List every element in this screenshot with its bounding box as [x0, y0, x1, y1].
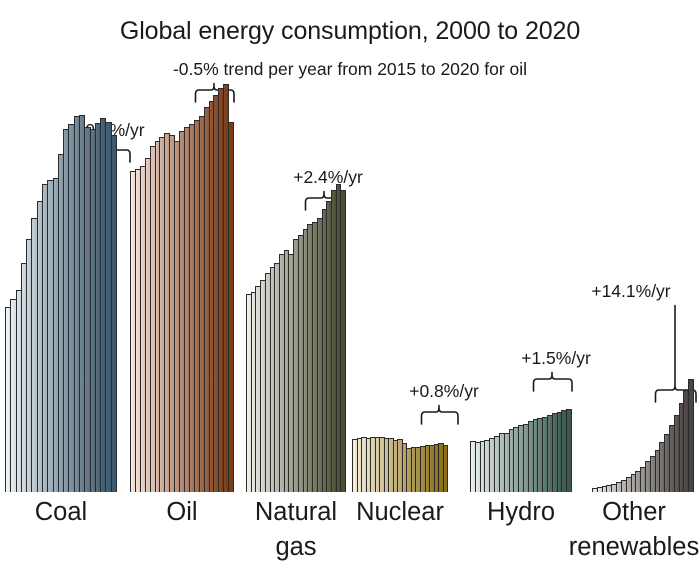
- category-label-hydro: Hydro: [462, 495, 580, 530]
- category-label-line1: Other: [602, 498, 666, 526]
- category-labels: CoalOilNaturalgasNuclearHydroOtherrenewa…: [0, 492, 700, 577]
- bar[interactable]: [443, 445, 449, 492]
- trend-label-other-renewables: +14.1%/yr: [566, 281, 696, 301]
- bar-group-coal: [5, 0, 117, 492]
- bars-container: [592, 0, 694, 492]
- category-label-natural-gas: Naturalgas: [238, 495, 354, 565]
- bar-group-oil: [130, 0, 234, 492]
- category-label-other-renewables: Otherrenewables: [568, 495, 700, 565]
- category-label-line1: Coal: [35, 498, 87, 526]
- bar[interactable]: [111, 135, 117, 492]
- bars-container: [5, 0, 117, 492]
- energy-consumption-chart: Global energy consumption, 2000 to 2020 …: [0, 0, 700, 577]
- category-label-line2: renewables: [568, 530, 700, 565]
- category-label-line1: Oil: [166, 498, 197, 526]
- bar[interactable]: [340, 190, 346, 492]
- category-label-coal: Coal: [0, 495, 125, 530]
- bar-group-hydro: [470, 0, 572, 492]
- category-label-oil: Oil: [122, 495, 242, 530]
- bar-group-other-renewables: [592, 0, 694, 492]
- trend-bracket-nuclear: [420, 404, 460, 426]
- bar-group-natural-gas: [246, 0, 346, 492]
- category-label-line1: Hydro: [487, 498, 555, 526]
- bars-container: [246, 0, 346, 492]
- bar[interactable]: [566, 409, 572, 492]
- bars-container: [130, 0, 234, 492]
- trend-bracket-hydro: [532, 371, 574, 393]
- plot-area: -0.6%/yr+2.4%/yr+0.8%/yr+1.5%/yr+14.1%/y…: [0, 0, 700, 492]
- bars-container: [470, 0, 572, 492]
- bar[interactable]: [228, 122, 234, 492]
- bar[interactable]: [688, 379, 694, 492]
- category-label-nuclear: Nuclear: [344, 495, 456, 530]
- category-label-line2: gas: [238, 530, 354, 565]
- category-label-line1: Nuclear: [356, 498, 444, 526]
- category-label-line1: Natural: [255, 498, 337, 526]
